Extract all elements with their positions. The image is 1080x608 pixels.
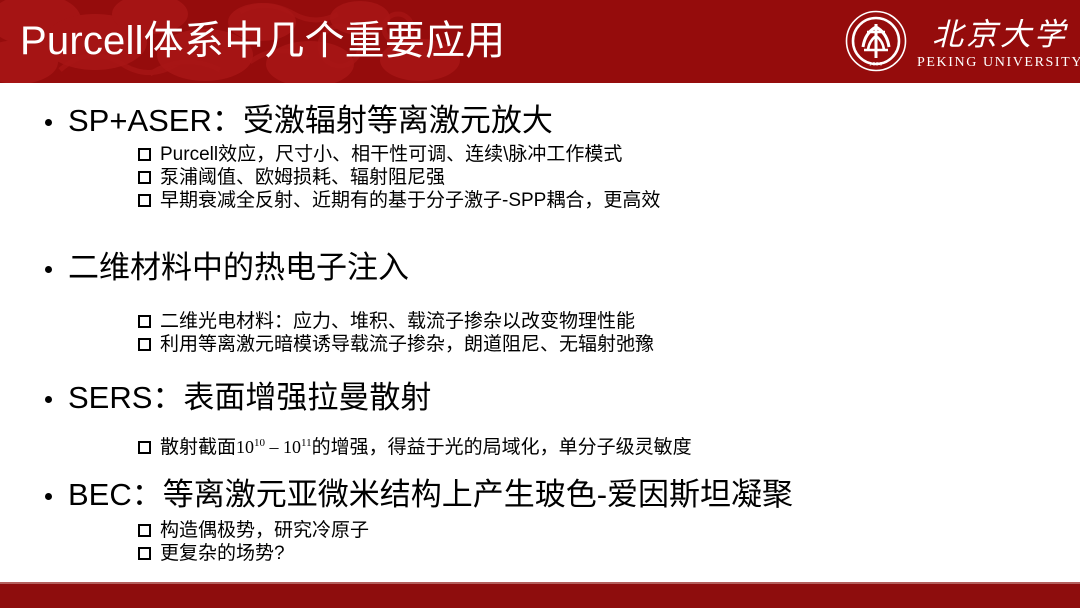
list-item: 早期衰减全反射、近期有的基于分子激子-SPP耦合，更高效 xyxy=(0,189,1080,212)
list-item: 散射截面1010 – 1011的增强，得益于光的局域化，单分子级灵敏度 xyxy=(0,436,1080,459)
square-bullet-icon xyxy=(138,315,151,328)
slide-footer-band xyxy=(0,584,1080,608)
page-title: Purcell体系中几个重要应用 xyxy=(20,12,505,70)
logo-chinese-name: 北京大学 xyxy=(925,14,1075,54)
square-bullet-icon xyxy=(138,171,151,184)
list-item-text: 二维光电材料：应力、堆积、载流子掺杂以改变物理性能 xyxy=(160,311,635,332)
bullet-dot-icon xyxy=(45,493,52,500)
slide-root: Purcell体系中几个重要应用 1898 北京大学 PEKING UNIVER… xyxy=(0,0,1080,608)
section-heading-text: SP+ASER：受激辐射等离激元放大 xyxy=(68,103,553,138)
peking-university-logo: 1898 北京大学 PEKING UNIVERSITY xyxy=(845,6,1070,76)
list-item-text: 更复杂的场势? xyxy=(160,543,285,564)
square-bullet-icon xyxy=(138,441,151,454)
section-sub-list: 构造偶极势，研究冷原子 更复杂的场势? xyxy=(0,519,1080,565)
list-item-text-post: 的增强，得益于光的局域化，单分子级灵敏度 xyxy=(312,437,692,458)
base-2: 10 xyxy=(283,437,301,457)
exponent-2: 11 xyxy=(301,437,312,449)
list-item-text-pre: 散射截面 xyxy=(160,437,236,458)
svg-text:北京大学: 北京大学 xyxy=(932,17,1068,52)
square-bullet-icon xyxy=(138,338,151,351)
list-item-text: 构造偶极势，研究冷原子 xyxy=(160,520,369,541)
base-1: 10 xyxy=(236,437,254,457)
list-item: 更复杂的场势? xyxy=(0,542,1080,565)
section-heading: 二维材料中的热电子注入 xyxy=(0,248,1080,288)
section-sub-list: Purcell效应，尺寸小、相干性可调、连续\脉冲工作模式 泵浦阈值、欧姆损耗、… xyxy=(0,143,1080,212)
list-item: 利用等离激元暗模诱导载流子掺杂，朗道阻尼、无辐射弛豫 xyxy=(0,333,1080,356)
square-bullet-icon xyxy=(138,547,151,560)
section-heading: BEC：等离激元亚微米结构上产生玻色-爱因斯坦凝聚 xyxy=(0,475,1080,515)
slide-content: SP+ASER：受激辐射等离激元放大 Purcell效应，尺寸小、相干性可调、连… xyxy=(0,83,1080,583)
scattering-cross-section-value: 1010 – 1011 xyxy=(236,437,312,457)
section-heading-text: SERS：表面增强拉曼散射 xyxy=(68,380,431,415)
section-heading-text: 二维材料中的热电子注入 xyxy=(68,250,409,285)
list-item-text: 早期衰减全反射、近期有的基于分子激子-SPP耦合，更高效 xyxy=(160,190,660,211)
list-item: 二维光电材料：应力、堆积、载流子掺杂以改变物理性能 xyxy=(0,310,1080,333)
section-heading: SP+ASER：受激辐射等离激元放大 xyxy=(0,101,1080,141)
logo-english-name: PEKING UNIVERSITY xyxy=(917,55,1080,71)
square-bullet-icon xyxy=(138,524,151,537)
list-item-text: 利用等离激元暗模诱导载流子掺杂，朗道阻尼、无辐射弛豫 xyxy=(160,334,654,355)
list-item: 泵浦阈值、欧姆损耗、辐射阻尼强 xyxy=(0,166,1080,189)
list-item: 构造偶极势，研究冷原子 xyxy=(0,519,1080,542)
square-bullet-icon xyxy=(138,194,151,207)
university-seal-icon: 1898 xyxy=(845,10,907,72)
section-sers: SERS：表面增强拉曼散射 散射截面1010 – 1011的增强，得益于光的局域… xyxy=(0,378,1080,459)
svg-text:1898: 1898 xyxy=(869,62,883,68)
list-item: Purcell效应，尺寸小、相干性可调、连续\脉冲工作模式 xyxy=(0,143,1080,166)
bullet-dot-icon xyxy=(45,266,52,273)
section-sub-list: 二维光电材料：应力、堆积、载流子掺杂以改变物理性能 利用等离激元暗模诱导载流子掺… xyxy=(0,310,1080,356)
slide-header-band: Purcell体系中几个重要应用 1898 北京大学 PEKING UNIVER… xyxy=(0,0,1080,83)
bullet-dot-icon xyxy=(45,119,52,126)
square-bullet-icon xyxy=(138,148,151,161)
list-item-text: 泵浦阈值、欧姆损耗、辐射阻尼强 xyxy=(160,167,445,188)
section-2d-material: 二维材料中的热电子注入 二维光电材料：应力、堆积、载流子掺杂以改变物理性能 利用… xyxy=(0,248,1080,356)
section-sp-aser: SP+ASER：受激辐射等离激元放大 Purcell效应，尺寸小、相干性可调、连… xyxy=(0,101,1080,212)
range-dash: – xyxy=(265,437,283,457)
exponent-1: 10 xyxy=(254,437,265,449)
section-sub-list: 散射截面1010 – 1011的增强，得益于光的局域化，单分子级灵敏度 xyxy=(0,436,1080,459)
bullet-dot-icon xyxy=(45,396,52,403)
section-heading: SERS：表面增强拉曼散射 xyxy=(0,378,1080,418)
section-heading-text: BEC：等离激元亚微米结构上产生玻色-爱因斯坦凝聚 xyxy=(68,477,793,512)
list-item-text: Purcell效应，尺寸小、相干性可调、连续\脉冲工作模式 xyxy=(160,144,622,165)
section-bec: BEC：等离激元亚微米结构上产生玻色-爱因斯坦凝聚 构造偶极势，研究冷原子 更复… xyxy=(0,475,1080,565)
